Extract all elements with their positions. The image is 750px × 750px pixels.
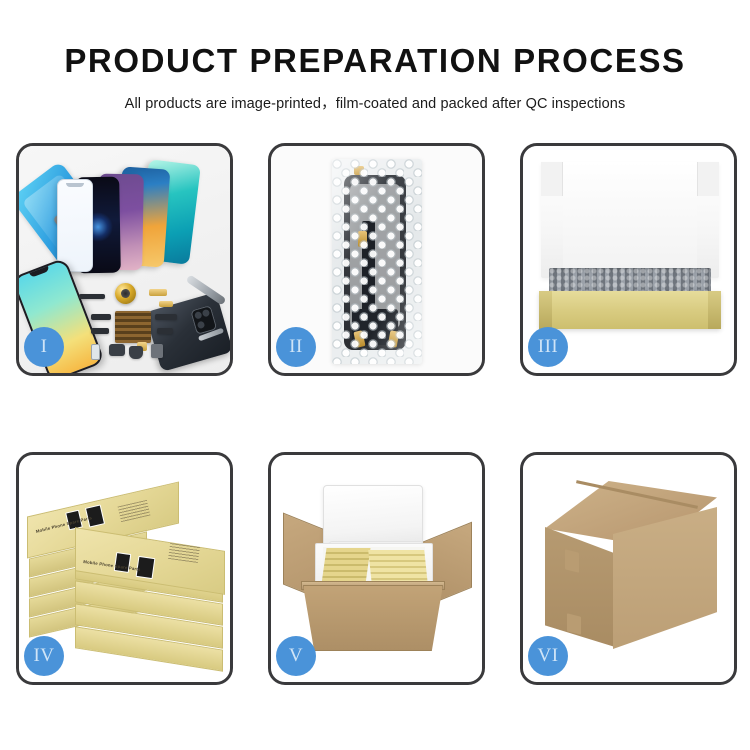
carton-tape-icon <box>565 549 579 572</box>
process-step-grid: I II <box>16 143 735 684</box>
step-badge-2: II <box>276 327 316 367</box>
white-box-lid-icon <box>541 162 719 278</box>
plastic-sheen-icon <box>332 159 422 364</box>
carton-tape-icon <box>567 613 581 634</box>
step-badge-1: I <box>24 327 64 367</box>
glass-notch-icon <box>66 183 84 187</box>
tempered-glass-icon <box>57 179 93 272</box>
step-card-5: V <box>268 452 485 685</box>
product-preparation-infographic: PRODUCT PREPARATION PROCESS All products… <box>0 0 750 750</box>
spare-part-icon <box>129 346 143 359</box>
box-inner-face-icon <box>563 176 697 278</box>
flex-cable-icon <box>157 328 173 334</box>
logic-board-icon <box>115 311 151 343</box>
step-image-4: Mobile Phone Spare Parts Mobile Phone Sp… <box>19 455 230 682</box>
carton-front-icon <box>303 585 443 651</box>
step-badge-3: III <box>528 327 568 367</box>
step-badge-5: V <box>276 636 316 676</box>
step-card-1: I <box>16 143 233 376</box>
foam-lid-icon <box>323 485 423 547</box>
step-card-3: III <box>520 143 737 376</box>
header: PRODUCT PREPARATION PROCESS All products… <box>0 0 750 113</box>
spare-part-icon <box>151 344 163 358</box>
box-corner-icon <box>539 291 552 329</box>
bubble-bag-icon <box>332 159 422 364</box>
step-image-5: V <box>271 455 482 682</box>
speaker-coil-icon <box>115 283 136 304</box>
flex-cable-icon <box>91 328 109 334</box>
yellow-box-base-icon <box>539 291 721 329</box>
box-flap-icon <box>697 162 719 196</box>
page-title: PRODUCT PREPARATION PROCESS <box>0 44 750 77</box>
flex-cable-icon <box>79 294 105 299</box>
step-image-1: I <box>19 146 230 373</box>
box-flap-icon <box>541 162 563 196</box>
step-card-6: VI <box>520 452 737 685</box>
step-card-2: II <box>268 143 485 376</box>
step-badge-4: IV <box>24 636 64 676</box>
gold-connector-icon <box>159 301 173 307</box>
page-subtitle: All products are image-printed，film-coat… <box>0 92 750 113</box>
box-corner-icon <box>708 291 721 329</box>
step-image-6: VI <box>523 455 734 682</box>
gold-connector-icon <box>149 289 167 296</box>
spare-part-icon <box>109 344 125 356</box>
flex-cable-icon <box>91 314 111 320</box>
boxed-bundle-icon <box>368 550 428 584</box>
step-badge-6: VI <box>528 636 568 676</box>
flex-cable-icon <box>155 314 177 320</box>
boxed-bundle-icon <box>321 548 370 584</box>
battery-connector-icon <box>91 344 100 360</box>
step-image-2: II <box>271 146 482 373</box>
step-image-3: III <box>523 146 734 373</box>
step-card-4: Mobile Phone Spare Parts Mobile Phone Sp… <box>16 452 233 685</box>
